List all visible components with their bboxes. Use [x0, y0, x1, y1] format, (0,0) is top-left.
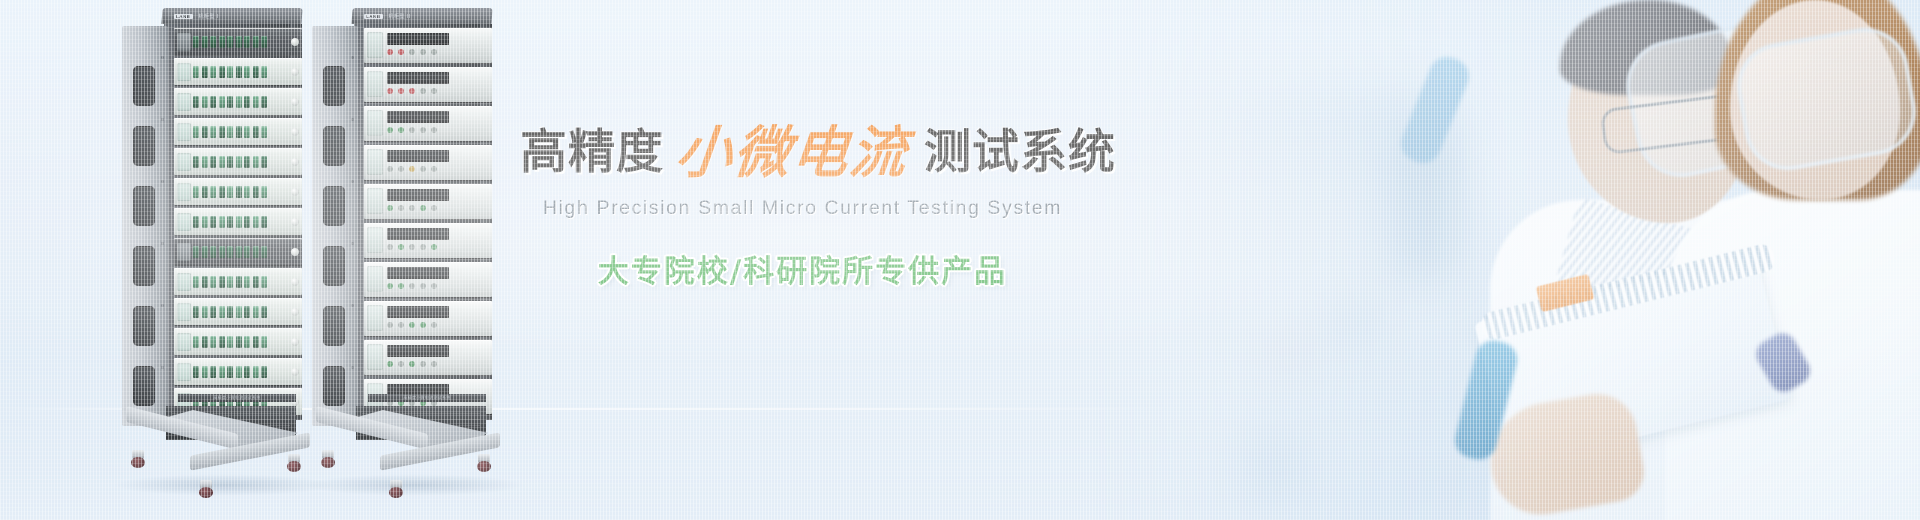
rack-post-slot — [323, 366, 345, 406]
rack-module — [174, 238, 302, 265]
rack-post-screw — [351, 366, 354, 369]
instrument-readout — [387, 228, 449, 240]
instrument-display — [367, 266, 383, 292]
instrument-module — [364, 340, 492, 375]
rack-module — [174, 28, 302, 55]
module-display — [177, 183, 191, 201]
rack-module — [174, 88, 302, 115]
caster-wheel — [388, 480, 404, 498]
instrument-module — [364, 106, 492, 141]
module-display — [177, 273, 191, 291]
rack-left-module-stack — [174, 28, 302, 418]
instrument-buttons — [387, 361, 437, 367]
instrument-readout — [387, 345, 449, 357]
instrument-panel-right — [462, 73, 488, 97]
instrument-module — [364, 28, 492, 63]
rack-right-shadow — [304, 474, 524, 496]
module-display — [177, 123, 191, 141]
module-display — [177, 303, 191, 321]
rack-post-slot — [133, 126, 155, 166]
module-display — [177, 33, 191, 51]
instrument-buttons — [387, 283, 437, 289]
module-knob — [291, 248, 299, 256]
instrument-readout — [387, 111, 449, 123]
caster-wheel — [320, 450, 336, 468]
instrument-module — [364, 262, 492, 297]
instrument-module — [364, 145, 492, 180]
module-display — [177, 363, 191, 381]
rack-post-slot — [133, 366, 155, 406]
instrument-buttons — [387, 127, 437, 133]
rack-post-screw — [161, 304, 164, 307]
rack-post-slot — [133, 246, 155, 286]
instrument-buttons — [387, 166, 437, 172]
instrument-panel-right — [462, 151, 488, 175]
rack-post-screw — [351, 242, 354, 245]
module-knob — [291, 128, 299, 136]
rack-post-slot — [323, 306, 345, 346]
module-knob — [291, 308, 299, 316]
rack-post-slot — [133, 186, 155, 226]
module-display — [177, 63, 191, 81]
caster-wheel — [286, 454, 302, 472]
instrument-module — [364, 301, 492, 336]
rack-post-screw — [351, 304, 354, 307]
rack-right-brand-logo: LANB — [364, 14, 383, 19]
product-banner: LANB 机柜型 I — [0, 0, 1920, 520]
instrument-display — [367, 71, 383, 97]
module-display — [177, 93, 191, 111]
rack-left-model-label: 机柜型 I — [199, 13, 219, 20]
instrument-panel-right — [462, 190, 488, 214]
rack-post-screw — [161, 366, 164, 369]
rack-left-shadow — [114, 474, 334, 496]
instrument-display — [367, 110, 383, 136]
rack-right-model-label: 机柜型 II — [389, 13, 411, 20]
instrument-display — [367, 344, 383, 370]
rack-post-screw — [351, 180, 354, 183]
rack-post-slot — [323, 126, 345, 166]
instrument-buttons — [387, 322, 437, 328]
rack-post-screw — [161, 242, 164, 245]
instrument-module — [364, 67, 492, 102]
rack-post-screw — [351, 56, 354, 59]
instrument-display — [367, 149, 383, 175]
rack-post-screw — [161, 118, 164, 121]
rack-module — [174, 268, 302, 295]
instrument-buttons — [387, 49, 437, 55]
module-knob — [291, 368, 299, 376]
rack-post-screw — [161, 56, 164, 59]
rack-left-base-label: 高精度小微电流测试系统 — [178, 394, 296, 402]
instrument-module — [364, 184, 492, 219]
module-display — [177, 153, 191, 171]
rack-right-brandbar: LANB 机柜型 II — [358, 10, 490, 22]
instrument-buttons — [387, 244, 437, 250]
instrument-panel-right — [462, 229, 488, 253]
instrument-readout — [387, 267, 449, 279]
module-knob — [291, 278, 299, 286]
rack-module — [174, 328, 302, 355]
instrument-buttons — [387, 205, 437, 211]
module-knob — [291, 338, 299, 346]
instrument-display — [367, 32, 383, 58]
instrument-panel-right — [462, 112, 488, 136]
headline-part-3: 测试系统 — [918, 129, 1116, 176]
banner-text-block: 高精度 小微电流 测试系统 High Precision Small Micro… — [520, 120, 1160, 291]
headline-part-1: 高精度 — [520, 129, 664, 176]
rack-module — [174, 358, 302, 385]
instrument-panel-right — [462, 268, 488, 292]
module-knob — [291, 158, 299, 166]
headline-part-2-highlight: 小微电流 — [661, 125, 921, 181]
rack-post-slot — [133, 306, 155, 346]
instrument-readout — [387, 72, 449, 84]
instrument-readout — [387, 306, 449, 318]
module-knob — [291, 38, 299, 46]
rack-left-base — [126, 406, 326, 476]
module-display — [177, 333, 191, 351]
module-knob — [291, 68, 299, 76]
caster-wheel — [476, 454, 492, 472]
module-knob — [291, 98, 299, 106]
instrument-display — [367, 188, 383, 214]
instrument-display — [367, 305, 383, 331]
rack-module — [174, 148, 302, 175]
rack-module — [174, 58, 302, 85]
rack-module — [174, 178, 302, 205]
rack-right-post — [312, 26, 358, 426]
instrument-readout — [387, 189, 449, 201]
instrument-readout — [387, 150, 449, 162]
rack-left-brandbar: LANB 机柜型 I — [168, 10, 300, 22]
module-display — [177, 213, 191, 231]
rack-post-slot — [323, 246, 345, 286]
photo-fade-overlay — [1090, 0, 1920, 520]
rack-left-brand-logo: LANB — [174, 14, 193, 19]
caster-wheel — [198, 480, 214, 498]
instrument-buttons — [387, 88, 437, 94]
banner-headline: 高精度 小微电流 测试系统 — [520, 120, 1160, 176]
instrument-panel-right — [462, 307, 488, 331]
banner-subtitle-english: High Precision Small Micro Current Testi… — [520, 197, 1085, 220]
lab-researchers-photo — [1090, 0, 1920, 520]
instrument-readout — [387, 33, 449, 45]
rack-post-screw — [351, 118, 354, 121]
caster-wheel — [130, 450, 146, 468]
module-display — [177, 243, 191, 261]
instrument-panel-right — [462, 34, 488, 58]
banner-tagline-chinese: 大专院校/科研院所专供产品 — [520, 246, 1085, 291]
instrument-display — [367, 227, 383, 253]
rack-module — [174, 118, 302, 145]
rack-left-post — [122, 26, 168, 426]
rack-post-screw — [161, 180, 164, 183]
instrument-panel-right — [462, 346, 488, 370]
module-knob — [291, 188, 299, 196]
rack-right-base — [316, 406, 516, 476]
rack-right-base-label: 高精度小微电流测试系统 — [368, 394, 486, 402]
rack-module — [174, 298, 302, 325]
rack-post-slot — [323, 66, 345, 106]
rack-post-slot — [133, 66, 155, 106]
module-knob — [291, 218, 299, 226]
rack-post-slot — [323, 186, 345, 226]
rack-right-module-stack — [364, 28, 492, 418]
rack-module — [174, 208, 302, 235]
instrument-module — [364, 223, 492, 258]
